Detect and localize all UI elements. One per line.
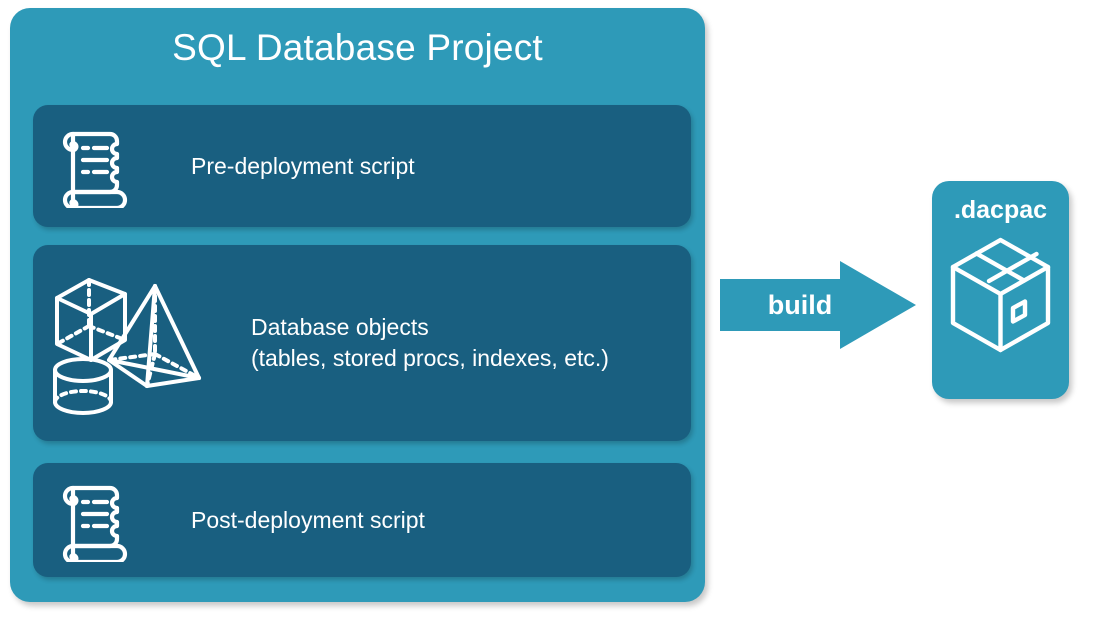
card-pre-deployment-script[interactable]: Pre-deployment script (33, 105, 691, 227)
dacpac-output-card[interactable]: .dacpac (932, 181, 1069, 399)
card-database-objects[interactable]: Database objects (tables, stored procs, … (33, 245, 691, 441)
diagram-canvas: SQL Database Project (0, 0, 1100, 619)
card-label-post-deployment: Post-deployment script (191, 505, 425, 536)
arrow-right-icon (720, 261, 916, 349)
card-label-pre-deployment: Pre-deployment script (191, 151, 415, 182)
dacpac-label: .dacpac (932, 194, 1069, 226)
card-post-deployment-script[interactable]: Post-deployment script (33, 463, 691, 577)
pyramid-shape (109, 286, 199, 386)
page-title: SQL Database Project (10, 26, 705, 70)
scroll-icon (33, 124, 151, 208)
sql-database-project-container: SQL Database Project (10, 8, 705, 602)
scroll-icon (33, 478, 151, 562)
shapes-icon (33, 268, 223, 418)
package-box-icon (949, 236, 1052, 354)
card-label-database-objects: Database objects (tables, stored procs, … (251, 312, 609, 374)
cylinder-shape (55, 359, 111, 413)
